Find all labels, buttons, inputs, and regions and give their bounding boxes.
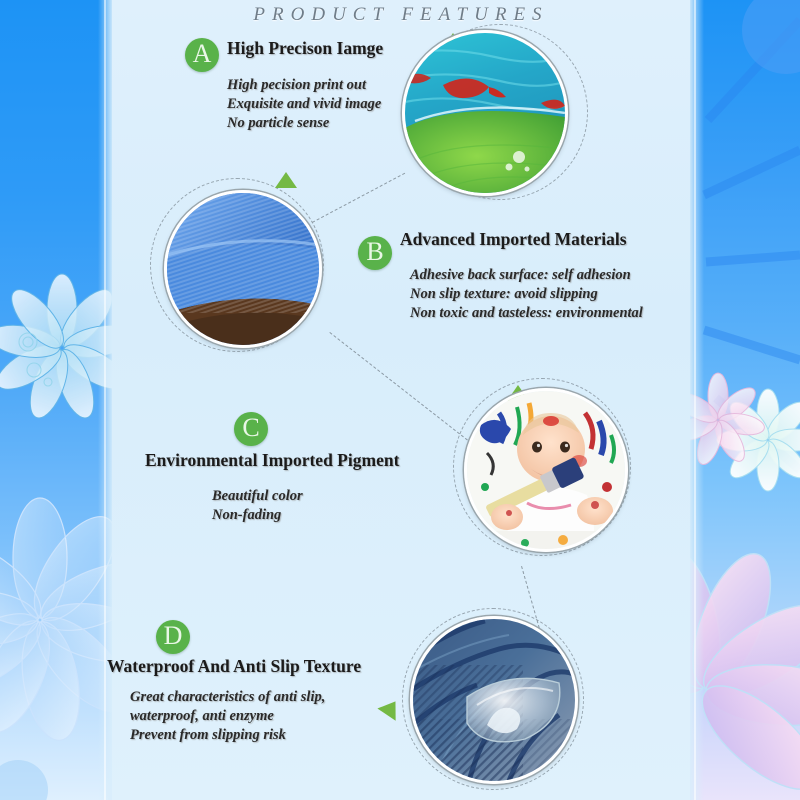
feature-c-heading: Environmental Imported Pigment [145, 450, 399, 471]
right-decorative-border [690, 0, 800, 800]
feature-a-line-3: No particle sense [227, 114, 381, 133]
feature-c-lines: Beautiful color Non-fading [212, 487, 303, 525]
connector-a-to-b [312, 173, 405, 223]
arrow-to-photo-d [377, 695, 404, 721]
feature-b-lines: Adhesive back surface: self adhesion Non… [410, 266, 643, 323]
badge-d: D [156, 620, 190, 654]
feature-d-line-1: Great characteristics of anti slip, [130, 688, 325, 707]
blue-fabric-material-photo [164, 190, 322, 348]
feature-b-heading: Advanced Imported Materials [400, 229, 627, 250]
badge-c: C [234, 412, 268, 446]
feature-a-line-1: High pecision print out [227, 76, 381, 95]
arrow-to-photo-b [275, 172, 297, 188]
water-droplet-art [413, 619, 575, 781]
badge-a: A [185, 38, 219, 72]
left-panel-hairline [104, 0, 106, 800]
feature-d-line-3: Prevent from slipping risk [130, 726, 325, 745]
baby-painting-art [467, 391, 625, 549]
koi-pond-print-photo [402, 30, 568, 196]
koi-pond-art [405, 33, 565, 193]
feature-b-line-2: Non slip texture: avoid slipping [410, 285, 643, 304]
baby-painting-photo [464, 388, 628, 552]
feature-b-line-1: Adhesive back surface: self adhesion [410, 266, 643, 285]
feature-d-line-2: waterproof, anti enzyme [130, 707, 325, 726]
badge-b: B [358, 236, 392, 270]
right-panel-hairline [694, 0, 696, 800]
feature-a-lines: High pecision print out Exquisite and vi… [227, 76, 381, 133]
left-border-flower-art [0, 0, 112, 800]
feature-c-line-1: Beautiful color [212, 487, 303, 506]
connector-b-to-c [329, 332, 475, 447]
content-panel: PRODUCT FEATURES A High Precison Iamge H… [112, 0, 690, 800]
page-title: PRODUCT FEATURES [112, 4, 690, 26]
feature-c-line-2: Non-fading [212, 506, 303, 525]
right-border-flower-art [690, 0, 800, 800]
feature-b-line-3: Non toxic and tasteless: environmental [410, 304, 643, 323]
product-features-poster: PRODUCT FEATURES A High Precison Iamge H… [0, 0, 800, 800]
left-decorative-border [0, 0, 112, 800]
feature-a-line-2: Exquisite and vivid image [227, 95, 381, 114]
feature-a-heading: High Precison Iamge [227, 38, 383, 59]
blue-fabric-art [167, 193, 319, 345]
water-droplet-texture-photo [410, 616, 578, 784]
feature-d-heading: Waterproof And Anti Slip Texture [107, 656, 361, 677]
feature-d-lines: Great characteristics of anti slip, wate… [130, 688, 325, 745]
